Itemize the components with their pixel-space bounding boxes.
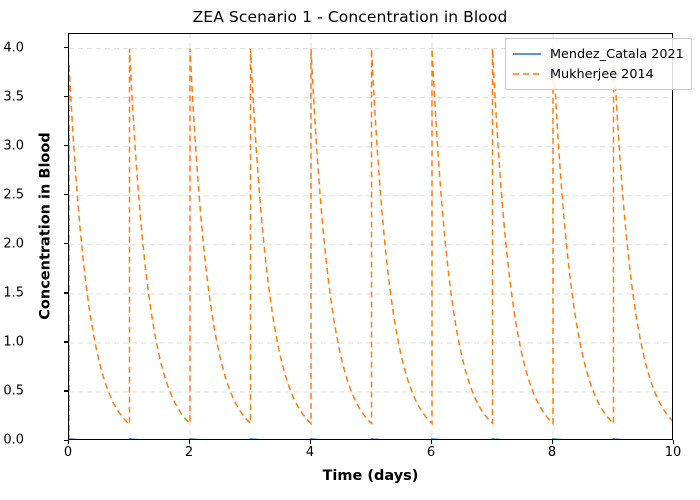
x-tick-mark [68, 440, 69, 444]
legend-line-swatch-solid-icon [512, 48, 542, 60]
y-tick-label: 2.5 [3, 187, 24, 202]
series-line-mukherjee-2014 [69, 49, 673, 440]
y-tick-label: 1.5 [3, 285, 24, 300]
y-tick-label: 4.0 [3, 40, 24, 55]
y-tick-mark [64, 341, 68, 342]
y-tick-mark [64, 47, 68, 48]
y-tick-label: 0.5 [3, 383, 24, 398]
y-tick-label: 0.0 [3, 433, 24, 448]
y-tick-label: 3.5 [3, 89, 24, 104]
y-tick-mark [64, 292, 68, 293]
x-tick-mark [552, 440, 553, 444]
legend-label: Mukherjee 2014 [550, 67, 654, 82]
chart-title: ZEA Scenario 1 - Concentration in Blood [0, 8, 700, 26]
x-tick-label: 2 [185, 445, 193, 460]
x-tick-label: 6 [427, 445, 435, 460]
series-line-mendez-catala-2021 [69, 439, 673, 440]
x-tick-label: 10 [665, 445, 682, 460]
x-tick-label: 4 [306, 445, 314, 460]
y-tick-mark [64, 194, 68, 195]
chart-figure: ZEA Scenario 1 - Concentration in Blood … [0, 0, 700, 500]
x-tick-mark [189, 440, 190, 444]
y-tick-label: 3.0 [3, 138, 24, 153]
legend-item-mukherjee-2014: Mukherjee 2014 [512, 64, 684, 84]
y-tick-mark [64, 243, 68, 244]
x-tick-label: 8 [548, 445, 556, 460]
y-tick-mark [64, 96, 68, 97]
y-tick-label: 2.0 [3, 236, 24, 251]
y-tick-label: 1.0 [3, 334, 24, 349]
plot-canvas [69, 34, 673, 440]
x-tick-mark [310, 440, 311, 444]
legend-line-swatch-dashed-icon [512, 68, 542, 80]
x-axis-label: Time (days) [68, 468, 673, 484]
chart-legend: Mendez_Catala 2021 Mukherjee 2014 [505, 38, 692, 90]
y-axis-label: Concentration in Blood [38, 23, 54, 430]
x-tick-label: 0 [64, 445, 72, 460]
y-tick-mark [64, 390, 68, 391]
plot-area [68, 33, 673, 440]
legend-label: Mendez_Catala 2021 [550, 47, 684, 62]
legend-item-mendez-catala-2021: Mendez_Catala 2021 [512, 44, 684, 64]
y-tick-mark [64, 145, 68, 146]
x-tick-mark [431, 440, 432, 444]
x-tick-mark [673, 440, 674, 444]
